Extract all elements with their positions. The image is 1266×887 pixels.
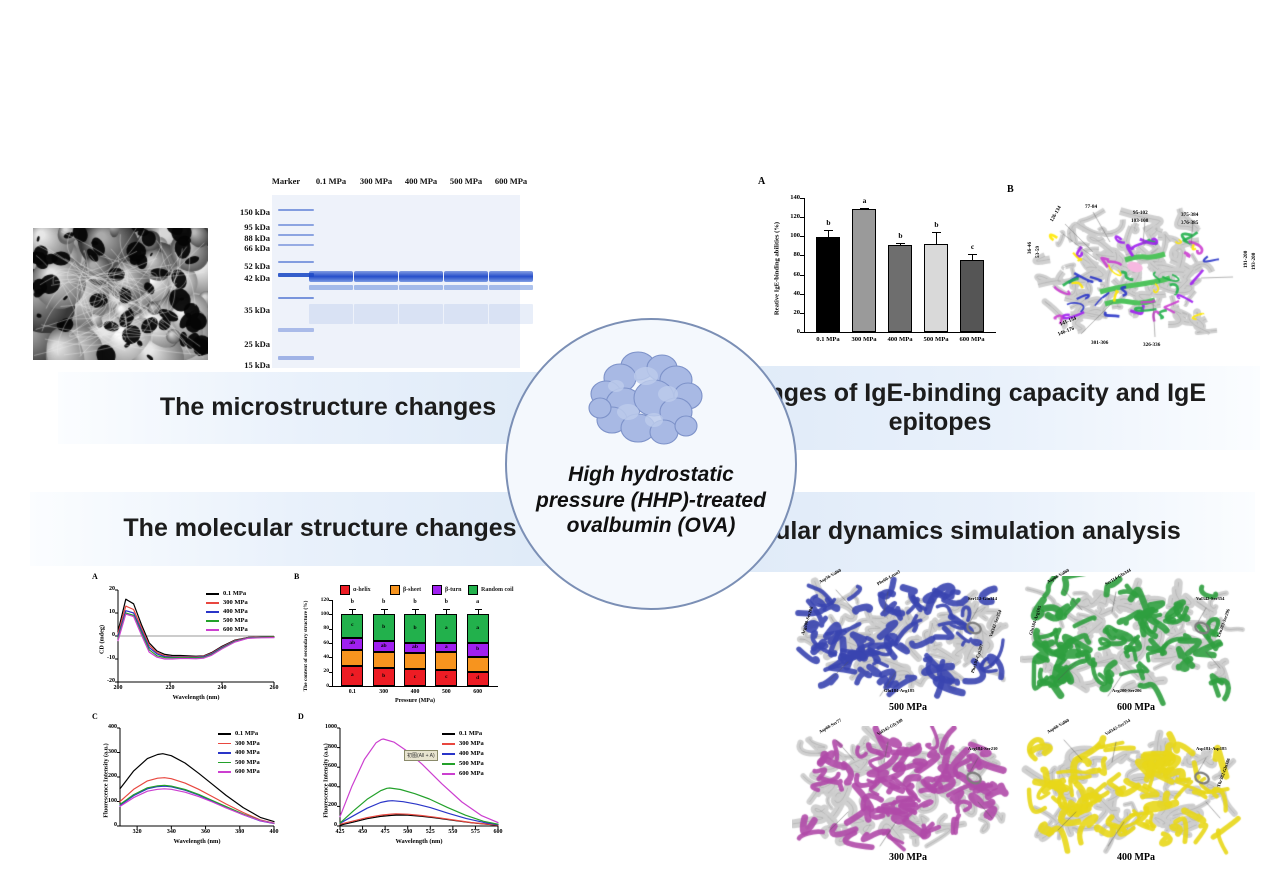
- legend-label: 300 MPa: [235, 740, 260, 747]
- error-bar: [936, 232, 937, 243]
- top-sig-letter: b: [435, 599, 457, 605]
- gel-smear: [489, 304, 533, 324]
- legend-swatch: [206, 620, 219, 622]
- sig-letter: b: [896, 231, 905, 240]
- epitope-label: 301-306: [1091, 340, 1108, 346]
- error-bar: [972, 254, 973, 261]
- x-tick-label: 340: [157, 829, 185, 835]
- error-cap: [968, 254, 977, 255]
- sig-letter: a: [435, 625, 457, 631]
- legend-label: 300 MPa: [223, 599, 248, 606]
- y-tick: [329, 657, 332, 658]
- legend-swatch: [442, 733, 455, 735]
- error-cap: [381, 609, 388, 610]
- md-structures-group: 500 MPa Asp56-Val60Phe60-Leun3Ser112-Gln…: [792, 576, 1262, 876]
- gel-marker-band: [278, 244, 314, 246]
- legend-swatch: [218, 771, 231, 773]
- ans-fluorescence-chart: D 42545047550052555057560002004006008001…: [296, 714, 518, 854]
- y-tick: [800, 255, 804, 256]
- annotation-badge: 初图(All + A): [404, 750, 438, 761]
- x-tick-label: 600: [461, 689, 495, 695]
- residue-label: Ser112-Gln314: [968, 596, 997, 601]
- x-tick-label: 200: [104, 685, 132, 691]
- y-tick-label: 40: [306, 654, 329, 660]
- gel-marker-label: 15 kDa: [228, 360, 270, 370]
- legend-label: β-turn: [445, 587, 462, 593]
- error-cap: [475, 609, 482, 610]
- gel-marker-label: 95 kDa: [228, 222, 270, 232]
- gel-smear: [444, 304, 488, 324]
- x-tick-label: 0.1 MPa: [809, 336, 847, 343]
- x-tick-label: 240: [208, 685, 236, 691]
- y-axis-title: Fluorescence Intensity (a.u.): [323, 702, 330, 860]
- bar-300MPa: [852, 209, 876, 332]
- epitope-label: 77-84: [1085, 204, 1097, 210]
- stack-seg-β-sheet: [467, 657, 489, 672]
- y-tick: [329, 672, 332, 673]
- bar-400MPa: [888, 245, 912, 332]
- gel-marker-label: 42 kDa: [228, 273, 270, 283]
- epitope-label: 95-102: [1133, 210, 1148, 216]
- gel-marker-label: 25 kDa: [228, 339, 270, 349]
- legend-swatch: [206, 602, 219, 604]
- error-cap: [860, 208, 869, 209]
- md-structure-300: 300 MPa Asp68-Ser77Val342-Gly349Arg184-S…: [792, 726, 1024, 876]
- gel-marker-label: 52 kDa: [228, 261, 270, 271]
- y-tick: [800, 313, 804, 314]
- sig-letter: c: [435, 674, 457, 680]
- sig-letter: a: [467, 625, 489, 631]
- legend-swatch: [340, 585, 350, 595]
- legend-label: 600 MPa: [459, 770, 484, 777]
- y-axis-title: The content of secondary structure (%): [303, 569, 309, 723]
- stack-seg-β-sheet: [341, 650, 363, 666]
- epitope-label: 326-336: [1143, 342, 1160, 348]
- y-tick: [329, 643, 332, 644]
- gel-smear: [309, 304, 353, 324]
- ige-epitope-structure: B 77-8495-102103-108375-384376-385126-13…: [1005, 182, 1263, 368]
- legend-item: Random coil: [468, 585, 514, 595]
- epitope-label: 103-108: [1131, 218, 1148, 224]
- y-axis-title: Fluorescence Intensity (a.u.): [103, 702, 110, 860]
- legend-swatch: [218, 762, 231, 764]
- gel-lane-header: 600 MPa: [485, 176, 537, 186]
- sig-letter: b: [467, 646, 489, 652]
- secondary-structure-chart: B 020406080100120aabcb0.1babbb300cabbb40…: [292, 574, 510, 710]
- center-title: High hydrostatic pressure (HHP)-treated …: [526, 462, 776, 539]
- y-tick: [329, 600, 332, 601]
- y-tick: [329, 629, 332, 630]
- legend-label: β-sheet: [403, 587, 421, 593]
- residue-label: Asp181-Asp185: [1196, 746, 1227, 751]
- sig-letter: c: [341, 622, 363, 628]
- stack-seg-β-sheet: [373, 652, 395, 668]
- epitope-label: 193-200: [1251, 253, 1257, 270]
- y-tick-label: 120: [306, 597, 329, 603]
- gel-sample-band: [309, 271, 353, 282]
- y-axis-title: CD (mdeg): [99, 564, 106, 716]
- intrinsic-fluorescence-chart: C 3203403603804000100200300400Wavelength…: [78, 714, 293, 854]
- legend-label: 500 MPa: [235, 759, 260, 766]
- x-axis-title: Pressure (MPa): [332, 698, 498, 704]
- residue-label: Arg184-Ser210: [968, 746, 998, 751]
- sig-letter: ab: [341, 640, 363, 646]
- legend-label: 0.1 MPa: [223, 590, 246, 597]
- y-tick: [329, 686, 332, 687]
- error-cap: [412, 609, 419, 610]
- legend-label: 300 MPa: [459, 740, 484, 747]
- protein-aggregate-icon: [576, 346, 726, 456]
- gel-sample-band-minor: [354, 285, 398, 290]
- center-concept-circle: High hydrostatic pressure (HHP)-treated …: [505, 318, 797, 610]
- gel-smear: [354, 304, 398, 324]
- series-400MPa: [340, 801, 498, 825]
- gel-marker-band: [278, 297, 314, 300]
- gel-sample-band: [399, 271, 443, 282]
- epitope-label: 36-46: [1027, 242, 1033, 254]
- legend-swatch: [442, 763, 455, 765]
- gel-marker-label: 150 kDa: [228, 207, 270, 217]
- legend-swatch: [218, 752, 231, 754]
- sig-letter: ab: [373, 643, 395, 649]
- legend-label: 600 MPa: [235, 768, 260, 775]
- y-tick-label: 80: [306, 625, 329, 631]
- legend-label: 0.1 MPa: [459, 730, 482, 737]
- x-tick-label: 300 MPa: [845, 336, 883, 343]
- x-axis: [804, 332, 996, 333]
- top-sig-letter: b: [404, 599, 426, 605]
- epitope-label: 53-59: [1035, 246, 1041, 258]
- gel-marker-band: [278, 234, 314, 236]
- legend-swatch: [442, 743, 455, 745]
- x-tick-label: 500: [429, 689, 463, 695]
- md-label-500: 500 MPa: [792, 702, 1024, 713]
- y-axis: [332, 600, 333, 686]
- bar-500MPa: [924, 244, 948, 332]
- top-sig-letter: a: [467, 599, 489, 605]
- gel-sample-band-minor: [489, 285, 533, 290]
- legend-label: 400 MPa: [223, 608, 248, 615]
- error-bar: [828, 230, 829, 238]
- error-cap: [932, 232, 941, 233]
- bar-600MPa: [960, 260, 984, 332]
- gel-sample-band: [354, 271, 398, 282]
- sem-micrograph: [33, 228, 208, 360]
- sig-letter: a: [435, 644, 457, 650]
- gel-smear: [399, 304, 443, 324]
- x-axis-title: Wavelength (nm): [118, 694, 274, 701]
- error-cap: [443, 609, 450, 610]
- gel-sample-band: [489, 271, 533, 282]
- epitope-label: 191-200: [1243, 251, 1249, 268]
- gel-sample-band-minor: [309, 285, 353, 290]
- error-cap: [349, 609, 356, 610]
- gel-marker-band: [278, 328, 314, 332]
- sig-letter: a: [341, 672, 363, 678]
- legend-item: α-helix: [340, 585, 371, 595]
- residue-label: Glu184-Arg185: [884, 688, 914, 693]
- sig-letter: d: [467, 675, 489, 681]
- y-tick: [800, 294, 804, 295]
- sig-letter: c: [968, 242, 977, 251]
- error-cap: [896, 243, 905, 244]
- legend-swatch: [432, 585, 442, 595]
- y-tick: [800, 198, 804, 199]
- gel-sample-band: [444, 271, 488, 282]
- top-sig-letter: b: [373, 599, 395, 605]
- sig-letter: b: [373, 624, 395, 630]
- stack-seg-β-sheet: [404, 653, 426, 669]
- y-axis: [804, 198, 805, 332]
- x-tick-label: 380: [226, 829, 254, 835]
- x-axis: [332, 686, 498, 687]
- panel-letter-b-stack: B: [294, 572, 299, 581]
- sds-page-gel: Marker0.1 MPa300 MPa400 MPa500 MPa600 MP…: [228, 176, 526, 368]
- legend-swatch: [206, 611, 219, 613]
- x-tick-label: 400 MPa: [881, 336, 919, 343]
- gel-marker-band: [278, 356, 314, 360]
- y-axis-title: Reative IgE-binding abilities (%): [774, 204, 781, 334]
- cd-spectra-chart: A 200220240260-20-1001020Wavelength (nm)…: [78, 574, 293, 709]
- md-structure-600: 600 MPa Asp68-Val60Ser114-Gln344Val342-S…: [1020, 576, 1252, 726]
- sig-letter: b: [932, 220, 941, 229]
- legend-label: 500 MPa: [223, 617, 248, 624]
- epitope-label: 376-385: [1181, 220, 1198, 226]
- legend-swatch: [218, 733, 231, 735]
- y-tick: [800, 236, 804, 237]
- y-tick: [800, 217, 804, 218]
- legend-swatch: [442, 753, 455, 755]
- x-tick-label: 600 MPa: [953, 336, 991, 343]
- y-tick-label: 0: [306, 683, 329, 689]
- panel-letter-a: A: [758, 176, 765, 187]
- gel-marker-label: 66 kDa: [228, 243, 270, 253]
- bar-01MPa: [816, 237, 840, 332]
- x-tick-label: 260: [260, 685, 288, 691]
- legend-label: α-helix: [353, 587, 371, 593]
- y-tick: [800, 332, 804, 333]
- top-sig-letter: b: [341, 599, 363, 605]
- legend-item: β-turn: [432, 585, 462, 595]
- legend-swatch: [468, 585, 478, 595]
- md-label-600: 600 MPa: [1020, 702, 1252, 713]
- x-tick-label: 360: [192, 829, 220, 835]
- gel-marker-label: 88 kDa: [228, 233, 270, 243]
- y-tick-label: 100: [306, 611, 329, 617]
- md-label-300: 300 MPa: [792, 852, 1024, 863]
- legend-label: 600 MPa: [223, 626, 248, 633]
- epitope-label: 375-384: [1181, 212, 1198, 218]
- series-600MPa: [118, 614, 274, 659]
- x-tick-label: 320: [123, 829, 151, 835]
- x-axis-title: Wavelength (nm): [340, 838, 498, 845]
- residue-label: Arg200-Ser206: [1112, 688, 1142, 693]
- sig-letter: b: [824, 218, 833, 227]
- sig-letter: ab: [404, 644, 426, 650]
- legend-swatch: [218, 743, 231, 745]
- stack-seg-β-sheet: [435, 652, 457, 670]
- gel-marker-label: 35 kDa: [228, 305, 270, 315]
- md-structure-500: 500 MPa Asp56-Val60Phe60-Leun3Ser112-Gln…: [792, 576, 1024, 726]
- md-label-400: 400 MPa: [1020, 852, 1252, 863]
- x-tick-label: 600: [484, 829, 512, 835]
- sig-letter: b: [404, 625, 426, 631]
- residue-label: Val342-Ser354: [1196, 596, 1224, 601]
- x-tick-label: 220: [156, 685, 184, 691]
- gel-sample-band-minor: [444, 285, 488, 290]
- x-tick-label: 400: [398, 689, 432, 695]
- y-tick-label: 140: [776, 194, 800, 201]
- sig-letter: c: [404, 674, 426, 680]
- legend-swatch: [390, 585, 400, 595]
- sig-letter: a: [860, 196, 869, 205]
- x-tick-label: 0.1: [335, 689, 369, 695]
- gel-marker-band: [278, 224, 314, 226]
- legend-swatch: [442, 773, 455, 775]
- y-tick-label: 60: [306, 640, 329, 646]
- legend-label: Random coil: [481, 587, 514, 593]
- legend-label: 400 MPa: [459, 750, 484, 757]
- gel-marker-band: [278, 209, 314, 211]
- y-tick-label: 20: [306, 668, 329, 674]
- legend-swatch: [206, 629, 219, 631]
- legend-label: 500 MPa: [459, 760, 484, 767]
- sig-letter: b: [373, 673, 395, 679]
- legend-swatch: [206, 593, 219, 595]
- y-tick: [329, 614, 332, 615]
- legend-label: 0.1 MPa: [235, 730, 258, 737]
- ige-binding-bar-chart: A 020406080100120140b0.1 MPaa300 MPab400…: [760, 180, 1000, 360]
- gel-sample-band-minor: [399, 285, 443, 290]
- legend-label: 400 MPa: [235, 749, 260, 756]
- x-tick-label: 500 MPa: [917, 336, 955, 343]
- x-axis-title: Wavelength (nm): [120, 838, 274, 845]
- error-cap: [824, 230, 833, 231]
- md-structure-400: 400 MPa Asp68-Val60Val342-Ser354Asp181-A…: [1020, 726, 1252, 876]
- x-tick-label: 300: [367, 689, 401, 695]
- x-tick-label: 400: [260, 829, 288, 835]
- y-tick: [800, 275, 804, 276]
- legend-item: β-sheet: [390, 585, 421, 595]
